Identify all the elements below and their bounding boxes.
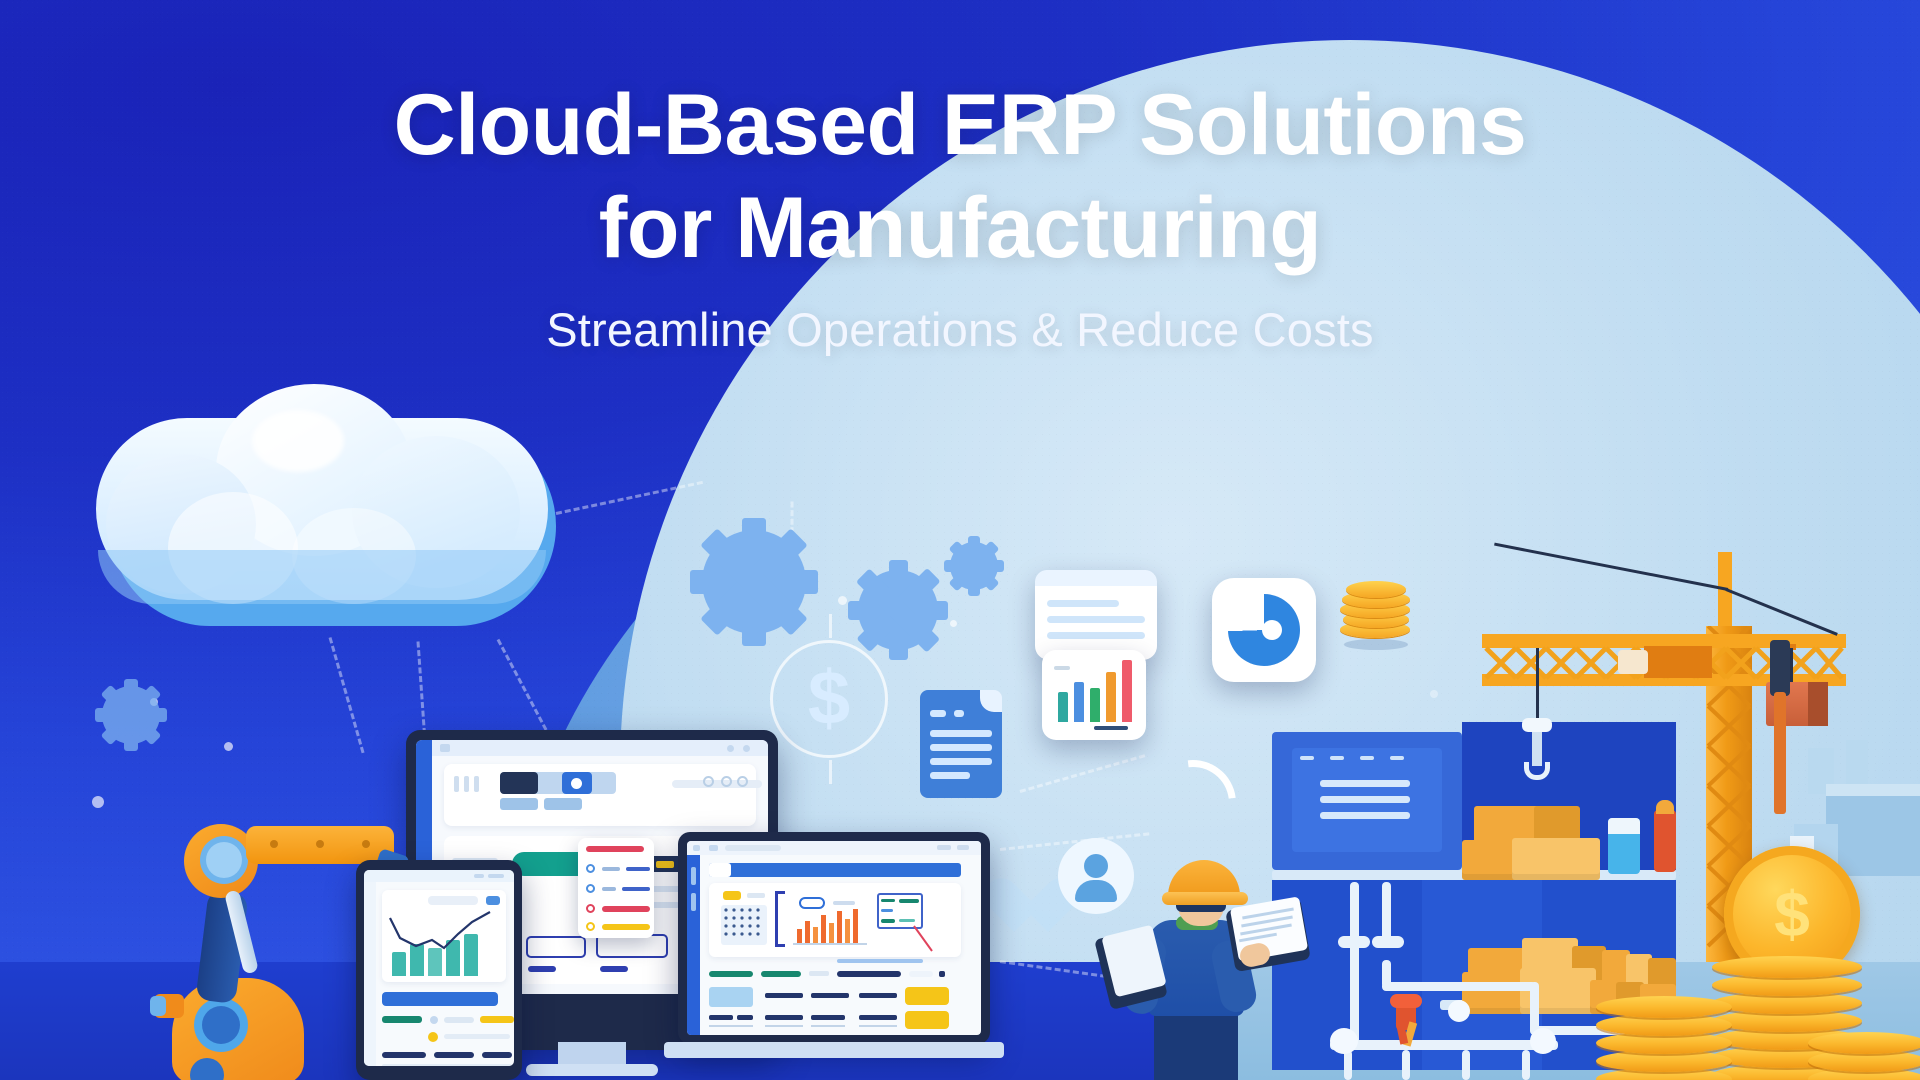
- hero-text-block: Cloud-Based ERP Solutions for Manufactur…: [0, 74, 1920, 359]
- bar-chart-icon: [1042, 650, 1146, 740]
- pie-chart-icon: [1212, 578, 1316, 682]
- cloud-icon: [96, 400, 566, 630]
- list-card-icon: [1035, 570, 1157, 660]
- gear-icon: [702, 530, 806, 634]
- gear-icon: [858, 570, 938, 650]
- page-subtitle: Streamline Operations & Reduce Costs: [0, 302, 1920, 358]
- document-icon: [920, 690, 1002, 798]
- dollar-symbol: $: [770, 640, 888, 758]
- page-title-line-1: Cloud-Based ERP Solutions: [0, 74, 1920, 177]
- hero-banner: Cloud-Based ERP Solutions for Manufactur…: [0, 0, 1920, 1080]
- coin-stack-icon: [1340, 575, 1416, 645]
- tablet-screen[interactable]: [364, 870, 514, 1066]
- tablet-device[interactable]: [356, 860, 522, 1080]
- user-avatar-icon: [1058, 838, 1134, 914]
- action-button[interactable]: [905, 987, 949, 1005]
- action-button[interactable]: [905, 1011, 949, 1029]
- gold-coin-stacks: $: [1642, 846, 1920, 1080]
- factory-worker-with-tablet: [1124, 848, 1334, 1080]
- pointer-line-icon: [913, 925, 937, 953]
- status-list-card[interactable]: [578, 838, 654, 938]
- gear-icon: [102, 686, 160, 744]
- gear-icon: [950, 542, 998, 590]
- arc-icon: [1150, 760, 1236, 846]
- laptop-device[interactable]: [678, 832, 990, 1080]
- page-title-line-2: for Manufacturing: [0, 177, 1920, 280]
- calendar-grid-icon: [721, 905, 767, 945]
- laptop-screen[interactable]: [687, 841, 981, 1035]
- tablet-trend-line: [386, 908, 496, 964]
- dollar-circle-icon: $: [770, 640, 888, 758]
